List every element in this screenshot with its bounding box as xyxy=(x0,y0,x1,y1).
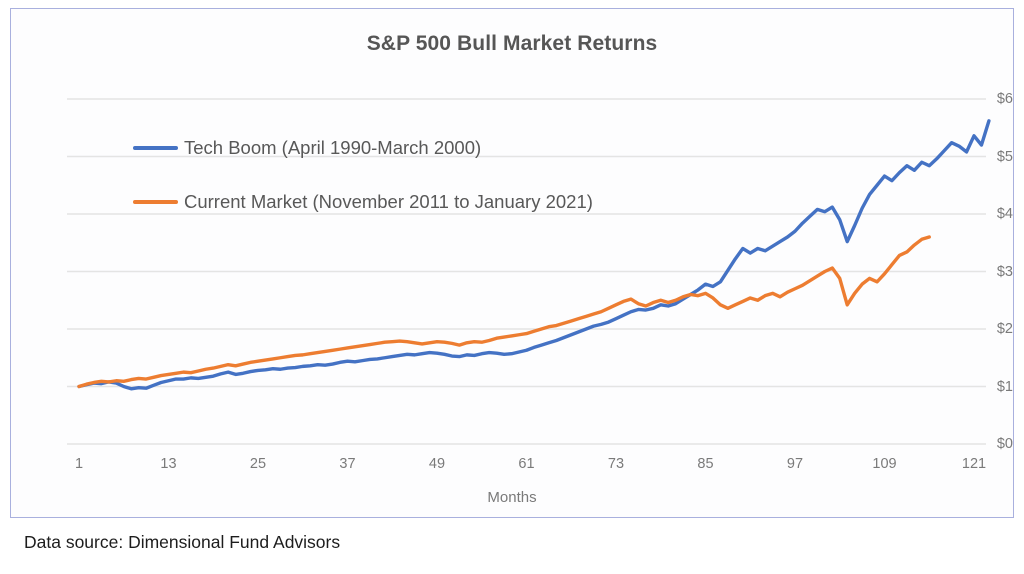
x-axis-tick-label: 49 xyxy=(429,456,445,472)
x-axis-tick-label: 13 xyxy=(160,456,176,472)
series-line-1 xyxy=(79,237,929,387)
x-axis-tick-label: 37 xyxy=(339,456,355,472)
x-axis-tick-label: 61 xyxy=(518,456,534,472)
y-axis-tick-label: $3 xyxy=(967,264,1013,280)
y-axis-tick-label: $6 xyxy=(967,91,1013,107)
y-axis-tick-label: $0 xyxy=(967,436,1013,452)
y-axis-tick-label: $1 xyxy=(967,379,1013,395)
chart-card: S&P 500 Bull Market Returns Tech Boom (A… xyxy=(10,8,1014,518)
y-axis-tick-label: $2 xyxy=(967,321,1013,337)
x-axis-tick-label: 121 xyxy=(962,456,986,472)
x-axis-tick-label: 109 xyxy=(872,456,896,472)
x-axis-tick-label: 85 xyxy=(697,456,713,472)
x-axis-tick-label: 1 xyxy=(75,456,83,472)
x-axis-title: Months xyxy=(11,489,1013,506)
screenshot-root: S&P 500 Bull Market Returns Tech Boom (A… xyxy=(0,0,1024,574)
x-axis-tick-label: 25 xyxy=(250,456,266,472)
x-axis-tick-label: 97 xyxy=(787,456,803,472)
x-axis-tick-label: 73 xyxy=(608,456,624,472)
y-axis-tick-label: $5 xyxy=(967,149,1013,165)
series-line-0 xyxy=(79,121,989,389)
data-source-caption: Data source: Dimensional Fund Advisors xyxy=(24,532,340,553)
line-chart-plot xyxy=(11,9,1015,519)
y-axis-tick-label: $4 xyxy=(967,206,1013,222)
